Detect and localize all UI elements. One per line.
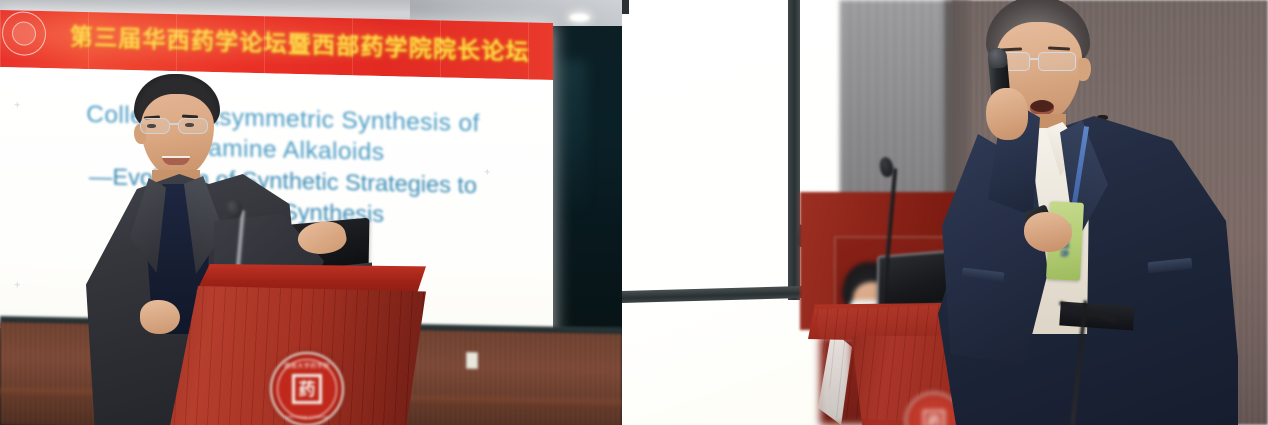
speaker-hand-right: [1024, 212, 1072, 252]
eyeglass-bridge: [1030, 58, 1039, 60]
wall-power-outlet-icon: [466, 352, 478, 369]
photo-pair-figure: 第三届华西药学论坛暨西部药学院院长论坛 + + + + Collective A…: [0, 0, 1268, 425]
photo-panel-left: 第三届华西药学论坛暨西部药学院院长论坛 + + + + Collective A…: [0, 0, 622, 425]
window-frame-edge: [622, 0, 629, 14]
seal-top-text: 西南大学药学院: [284, 361, 330, 370]
right-speaker: 学术报告: [952, 0, 1252, 425]
eyeglasses-icon: [138, 118, 218, 136]
seal-bottom-text: Southwest University College of Pharmace…: [270, 415, 344, 419]
dark-wall-sheen: [556, 60, 586, 210]
curtain: [840, 0, 958, 210]
speaker-hand-holding-microphone: [986, 88, 1028, 140]
speaker-hand-left: [140, 300, 180, 334]
seal-center-glyph: 药: [292, 374, 322, 404]
eyeglass-bridge: [170, 123, 179, 125]
window-frame-mullion: [788, 0, 800, 300]
university-seal-icon: 西南大学药学院 药 Southwest University College o…: [270, 352, 344, 425]
seal-center-glyph: 药: [923, 410, 945, 425]
eyeglass-lens: [140, 118, 170, 134]
slide-decor-mark: +: [14, 99, 20, 111]
microphone-grille: [987, 47, 1008, 69]
photo-panel-right: 药: [622, 0, 1268, 425]
conference-banner-title: 第三届华西药学论坛暨西部药学院院长论坛: [70, 17, 540, 67]
eyeglass-lens: [1038, 52, 1076, 71]
university-seal-icon: [2, 11, 46, 56]
speaker-mouth: [1030, 100, 1054, 115]
ceiling-spotlight-icon: [569, 13, 590, 22]
slide-decor-mark: +: [14, 279, 20, 291]
eyeglass-lens: [178, 118, 208, 134]
